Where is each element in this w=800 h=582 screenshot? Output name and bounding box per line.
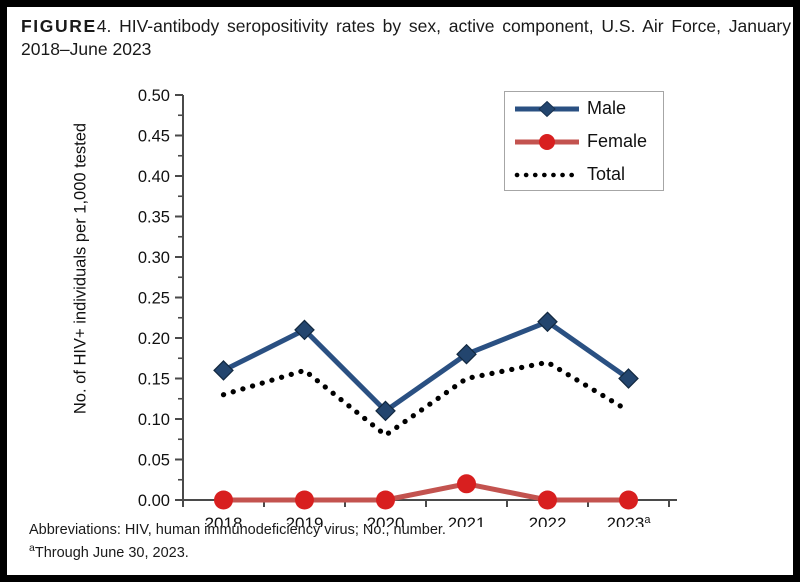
figure-container: FIGURE4. HIV-antibody seropositivity rat… [0, 0, 800, 582]
y-tick-label: 0.45 [138, 128, 170, 146]
legend-item-total: Total [505, 158, 663, 191]
data-point-marker [214, 491, 233, 510]
footnotes: Abbreviations: HIV, human immunodeficien… [29, 520, 446, 565]
data-point-marker [457, 474, 476, 493]
data-point-marker [376, 491, 395, 510]
y-tick-label: 0.00 [138, 492, 170, 510]
y-tick-label: 0.10 [138, 411, 170, 429]
y-tick-label: 0.40 [138, 168, 170, 186]
legend-swatch-male [513, 98, 581, 120]
data-point-marker [295, 491, 314, 510]
y-tick-label: 0.05 [138, 452, 170, 470]
legend-label-total: Total [581, 164, 625, 185]
legend-swatch-total [513, 164, 581, 186]
legend-item-male: Male [505, 92, 663, 125]
y-tick-label: 0.20 [138, 330, 170, 348]
legend-item-female: Female [505, 125, 663, 158]
y-tick-label: 0.15 [138, 371, 170, 389]
series-line-total [224, 362, 629, 435]
figure-number: 4. [97, 16, 112, 36]
chart-legend: Male Female Total [504, 91, 664, 191]
footnote-note: aThrough June 30, 2023. [29, 541, 446, 565]
y-tick-label: 0.50 [138, 87, 170, 105]
plot-area: No. of HIV+ individuals per 1,000 tested… [7, 67, 793, 527]
figure-title-text: HIV-antibody seropositivity rates by sex… [21, 16, 791, 59]
legend-label-male: Male [581, 98, 626, 119]
x-tick-label: 2023a [607, 514, 652, 527]
data-point-marker [538, 491, 557, 510]
data-point-marker [619, 491, 638, 510]
legend-label-female: Female [581, 131, 647, 152]
series-line-male [224, 322, 629, 411]
figure-label: FIGURE [21, 16, 97, 36]
series-line-female [224, 484, 629, 500]
figure-title: FIGURE4. HIV-antibody seropositivity rat… [21, 15, 791, 62]
x-tick-label: 2021 [448, 514, 486, 527]
y-tick-label: 0.35 [138, 209, 170, 227]
footnote-abbreviations: Abbreviations: HIV, human immunodeficien… [29, 520, 446, 542]
y-tick-label: 0.25 [138, 290, 170, 308]
footnote-text: Through June 30, 2023. [35, 545, 189, 561]
line-chart-svg: 0.000.050.100.150.200.250.300.350.400.45… [7, 67, 793, 527]
y-tick-label: 0.30 [138, 249, 170, 267]
legend-swatch-female [513, 131, 581, 153]
x-tick-label: 2022 [529, 514, 567, 527]
data-point-marker [214, 361, 233, 380]
